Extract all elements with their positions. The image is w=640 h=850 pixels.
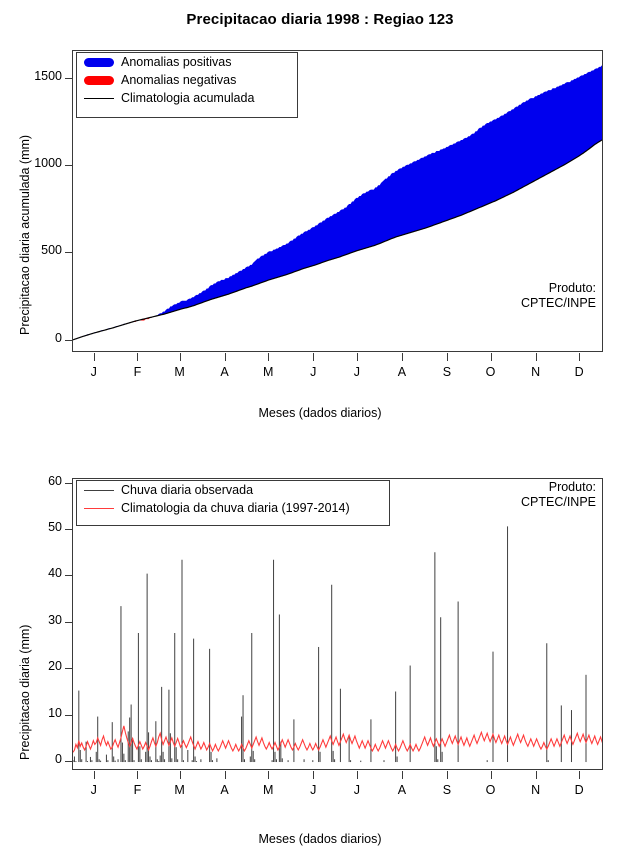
y-axis-tick	[65, 78, 72, 79]
x-axis-tick	[137, 771, 138, 779]
legend-label: Climatologia da chuva diaria (1997-2014)	[121, 501, 350, 515]
top-legend: Anomalias positivasAnomalias negativasCl…	[76, 52, 298, 118]
x-axis-tick	[402, 771, 403, 779]
x-tick-label: N	[526, 365, 546, 379]
y-axis-tick	[65, 715, 72, 716]
x-axis-tick	[225, 353, 226, 361]
legend-item: Climatologia da chuva diaria (1997-2014)	[77, 499, 389, 517]
legend-swatch-icon	[77, 76, 121, 85]
x-axis-tick	[268, 771, 269, 779]
y-tick-label: 1500	[14, 69, 62, 83]
x-tick-label: J	[303, 783, 323, 797]
top-produto-annotation: Produto: CPTEC/INPE	[521, 281, 596, 311]
y-axis-tick	[65, 165, 72, 166]
x-axis-tick	[94, 771, 95, 779]
x-axis-tick	[536, 771, 537, 779]
x-axis-tick	[180, 771, 181, 779]
y-axis-tick	[65, 668, 72, 669]
y-tick-label: 1000	[14, 156, 62, 170]
x-tick-label: J	[84, 783, 104, 797]
x-axis-tick	[536, 353, 537, 361]
x-axis-tick	[225, 771, 226, 779]
bottom-produto-annotation: Produto: CPTEC/INPE	[521, 480, 596, 510]
y-tick-label: 20	[14, 659, 62, 673]
y-axis-tick	[65, 340, 72, 341]
legend-item: Anomalias positivas	[77, 53, 297, 71]
x-tick-label: A	[392, 783, 412, 797]
y-tick-label: 30	[14, 613, 62, 627]
bottom-x-axis-label: Meses (dados diarios)	[0, 832, 640, 846]
legend-line-icon	[77, 98, 121, 99]
page-title: Precipitacao diaria 1998 : Regiao 123	[0, 11, 640, 28]
x-axis-tick	[447, 771, 448, 779]
x-axis-tick	[313, 353, 314, 361]
x-axis-tick	[491, 353, 492, 361]
x-tick-label: J	[303, 365, 323, 379]
x-axis-tick	[579, 771, 580, 779]
legend-swatch-icon	[77, 58, 121, 67]
y-tick-label: 0	[14, 331, 62, 345]
x-tick-label: J	[84, 365, 104, 379]
y-axis-tick	[65, 529, 72, 530]
legend-label: Anomalias positivas	[121, 55, 231, 69]
x-tick-label: M	[170, 783, 190, 797]
y-tick-label: 0	[14, 752, 62, 766]
x-axis-tick	[137, 353, 138, 361]
x-tick-label: O	[481, 783, 501, 797]
x-tick-label: M	[258, 783, 278, 797]
x-axis-tick	[447, 353, 448, 361]
legend-line-icon	[77, 490, 121, 491]
y-axis-tick	[65, 252, 72, 253]
y-tick-label: 10	[14, 706, 62, 720]
legend-label: Chuva diaria observada	[121, 483, 253, 497]
y-axis-tick	[65, 761, 72, 762]
y-tick-label: 500	[14, 243, 62, 257]
x-tick-label: S	[437, 365, 457, 379]
daily-precipitation-panel: Precipitacao diaria (mm) JFMAMJJASOND Pr…	[0, 430, 640, 850]
legend-label: Climatologia acumulada	[121, 91, 254, 105]
x-tick-label: O	[481, 365, 501, 379]
x-tick-label: M	[258, 365, 278, 379]
x-tick-label: D	[569, 783, 589, 797]
x-tick-label: M	[170, 365, 190, 379]
y-tick-label: 40	[14, 566, 62, 580]
legend-item: Chuva diaria observada	[77, 481, 389, 499]
x-axis-tick	[357, 771, 358, 779]
bottom-legend: Chuva diaria observadaClimatologia da ch…	[76, 480, 390, 526]
bottom-y-axis-label: Precipitacao diaria (mm)	[18, 625, 32, 760]
x-tick-label: J	[347, 365, 367, 379]
legend-label: Anomalias negativas	[121, 73, 236, 87]
legend-item: Anomalias negativas	[77, 71, 297, 89]
x-axis-tick	[357, 353, 358, 361]
y-axis-tick	[65, 622, 72, 623]
x-tick-label: F	[127, 783, 147, 797]
x-tick-label: A	[215, 783, 235, 797]
y-tick-label: 60	[14, 474, 62, 488]
x-axis-tick	[94, 353, 95, 361]
y-axis-tick	[65, 575, 72, 576]
x-tick-label: A	[392, 365, 412, 379]
cumulative-precipitation-panel: Precipitacao diaria 1998 : Regiao 123 Pr…	[0, 0, 640, 430]
x-tick-label: F	[127, 365, 147, 379]
x-tick-label: D	[569, 365, 589, 379]
x-axis-tick	[268, 353, 269, 361]
x-axis-tick	[491, 771, 492, 779]
top-x-axis-label: Meses (dados diarios)	[0, 406, 640, 420]
y-tick-label: 50	[14, 520, 62, 534]
x-tick-label: J	[347, 783, 367, 797]
legend-item: Climatologia acumulada	[77, 89, 297, 107]
y-axis-tick	[65, 483, 72, 484]
x-axis-tick	[402, 353, 403, 361]
legend-line-icon	[77, 508, 121, 509]
x-axis-tick	[313, 771, 314, 779]
x-axis-tick	[579, 353, 580, 361]
x-axis-tick	[180, 353, 181, 361]
x-tick-label: A	[215, 365, 235, 379]
x-tick-label: S	[437, 783, 457, 797]
x-tick-label: N	[526, 783, 546, 797]
